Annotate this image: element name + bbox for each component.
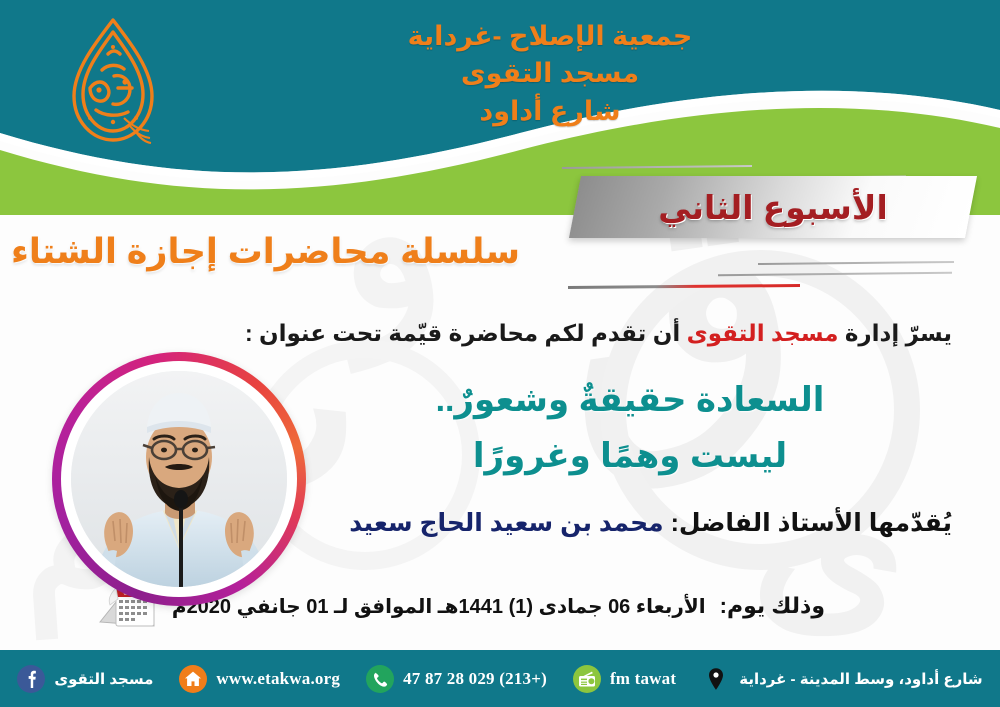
- header-line-3: شارع أداود: [330, 93, 770, 130]
- lecture-title-line-1: السعادة حقيقةٌ وشعورٌ..: [320, 372, 940, 428]
- date-label: وذلك يوم:: [720, 593, 825, 619]
- intro-before: يسرّ إدارة: [838, 320, 952, 346]
- footer-item-radio[interactable]: fm tawat: [573, 665, 676, 693]
- footer-label-facebook: مسجد التقوى: [54, 670, 153, 688]
- header-line-2: مسجد التقوى: [330, 55, 770, 92]
- intro-after: أن تقدم لكم محاضرة قيّمة تحت عنوان :: [245, 320, 687, 346]
- home-icon[interactable]: [179, 665, 207, 693]
- week-banner: الأسبوع الثاني: [575, 176, 971, 238]
- phone-icon[interactable]: [366, 665, 394, 693]
- footer-label-website: www.etakwa.org: [216, 669, 340, 689]
- footer-item-phone[interactable]: (+213) 029 28 87 47: [366, 665, 547, 693]
- footer-item-website[interactable]: www.etakwa.org: [179, 665, 340, 693]
- decorative-line-bottom-2: [718, 272, 952, 276]
- facebook-icon[interactable]: [17, 665, 45, 693]
- decorative-line-red: [568, 284, 800, 289]
- decorative-line-bottom-1: [758, 261, 954, 265]
- footer-item-facebook[interactable]: مسجد التقوى: [17, 665, 153, 693]
- week-banner-label: الأسبوع الثاني: [575, 176, 971, 238]
- footer-bar: مسجد التقوى www.etakwa.org (+213) 029 28…: [0, 650, 1000, 707]
- footer-label-address: شارع أداود، وسط المدينة - غرداية: [739, 670, 982, 688]
- lecture-title: السعادة حقيقةٌ وشعورٌ.. ليست وهمًا وغرور…: [320, 372, 940, 484]
- presenter-label: يُقدّمها الأستاذ الفاضل:: [671, 509, 952, 537]
- header-title-block: جمعية الإصلاح -غرداية مسجد التقوى شارع أ…: [330, 18, 770, 130]
- footer-item-address[interactable]: شارع أداود، وسط المدينة - غرداية: [702, 665, 982, 693]
- date-value: الأربعاء 06 جمادى (1) 1441هـ الموافق لـ …: [172, 594, 706, 619]
- presenter-line: يُقدّمها الأستاذ الفاضل: محمد بن سعيد ال…: [297, 508, 952, 538]
- footer-label-phone: (+213) 029 28 87 47: [403, 669, 547, 689]
- poster-root: ق ت و ى م: [0, 0, 1000, 707]
- footer-label-radio: fm tawat: [610, 669, 676, 689]
- radio-icon[interactable]: [573, 665, 601, 693]
- series-title: سلسلة محاضرات إجازة الشتاء: [11, 232, 520, 272]
- intro-highlight: مسجد التقوى: [687, 320, 839, 346]
- location-pin-icon[interactable]: [702, 665, 730, 693]
- header-line-1: جمعية الإصلاح -غرداية: [330, 18, 770, 55]
- speaker-photo: [71, 371, 287, 587]
- intro-sentence: يسرّ إدارة مسجد التقوى أن تقدم لكم محاضر…: [297, 320, 952, 347]
- mosque-calligraphy-logo-icon: [52, 14, 174, 150]
- lecture-title-line-2: ليست وهمًا وغرورًا: [320, 428, 940, 484]
- presenter-name: محمد بن سعيد الحاج سعيد: [349, 509, 663, 537]
- speaker-photo-ring: [52, 352, 306, 606]
- decorative-line-top-1: [562, 165, 752, 169]
